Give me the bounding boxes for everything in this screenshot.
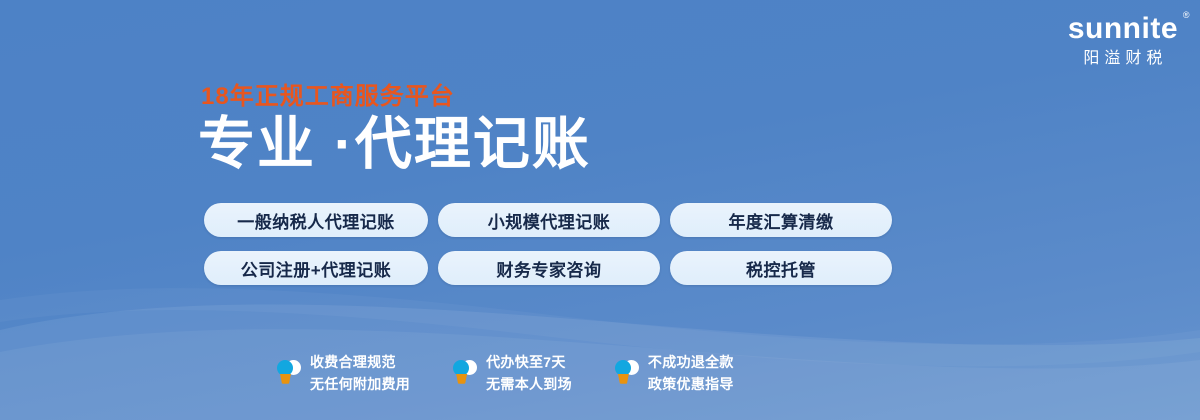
lightbulb-icon-base (456, 374, 467, 384)
lightbulb-icon-base (280, 374, 291, 384)
feature-item-text: 不成功退全款 政策优惠指导 (648, 352, 734, 395)
hero-headline: 专业 ·代理记账 (198, 112, 591, 178)
feature-item-line2: 无需本人到场 (486, 374, 572, 396)
service-pill[interactable]: 税控托管 (670, 251, 892, 285)
service-pill[interactable]: 年度汇算清缴 (670, 203, 892, 237)
hero-kicker: 18年正规工商服务平台 (201, 76, 455, 111)
promo-banner: sunnite ® 阳溢财税 18年正规工商服务平台 专业 ·代理记账 一般纳税… (0, 0, 1200, 420)
lightbulb-icon (452, 358, 478, 390)
feature-item-text: 代办快至7天 无需本人到场 (486, 352, 572, 395)
feature-list: 收费合理规范 无任何附加费用 代办快至7天 无需本人到场 不成功退全款 (276, 352, 734, 395)
service-pill[interactable]: 一般纳税人代理记账 (204, 203, 428, 237)
service-pill[interactable]: 公司注册+代理记账 (204, 251, 428, 285)
lightbulb-icon (614, 358, 640, 390)
lightbulb-icon (276, 358, 302, 390)
lightbulb-icon-globe (615, 360, 631, 376)
feature-item-line1: 收费合理规范 (310, 352, 410, 374)
feature-item: 代办快至7天 无需本人到场 (452, 352, 572, 395)
brand-logo-subtitle: 阳溢财税 (1068, 51, 1178, 67)
feature-item: 不成功退全款 政策优惠指导 (614, 352, 734, 395)
brand-logo-word-text: sunnite (1068, 12, 1178, 45)
feature-item-text: 收费合理规范 无任何附加费用 (310, 352, 410, 395)
lightbulb-icon-globe (453, 360, 469, 376)
lightbulb-icon-globe (277, 360, 293, 376)
feature-item-line2: 无任何附加费用 (310, 374, 410, 396)
feature-item-line1: 不成功退全款 (648, 352, 734, 374)
service-pill[interactable]: 财务专家咨询 (438, 251, 660, 285)
feature-item-line1: 代办快至7天 (486, 352, 572, 374)
service-pill[interactable]: 小规模代理记账 (438, 203, 660, 237)
feature-item: 收费合理规范 无任何附加费用 (276, 352, 410, 395)
registered-trademark-icon: ® (1183, 11, 1190, 20)
brand-logo: sunnite ® 阳溢财税 (1068, 14, 1178, 67)
lightbulb-icon-base (618, 374, 629, 384)
service-pill-grid: 一般纳税人代理记账 小规模代理记账 年度汇算清缴 公司注册+代理记账 财务专家咨… (204, 203, 892, 285)
feature-item-line2: 政策优惠指导 (648, 374, 734, 396)
brand-logo-wordmark: sunnite ® (1068, 14, 1178, 44)
